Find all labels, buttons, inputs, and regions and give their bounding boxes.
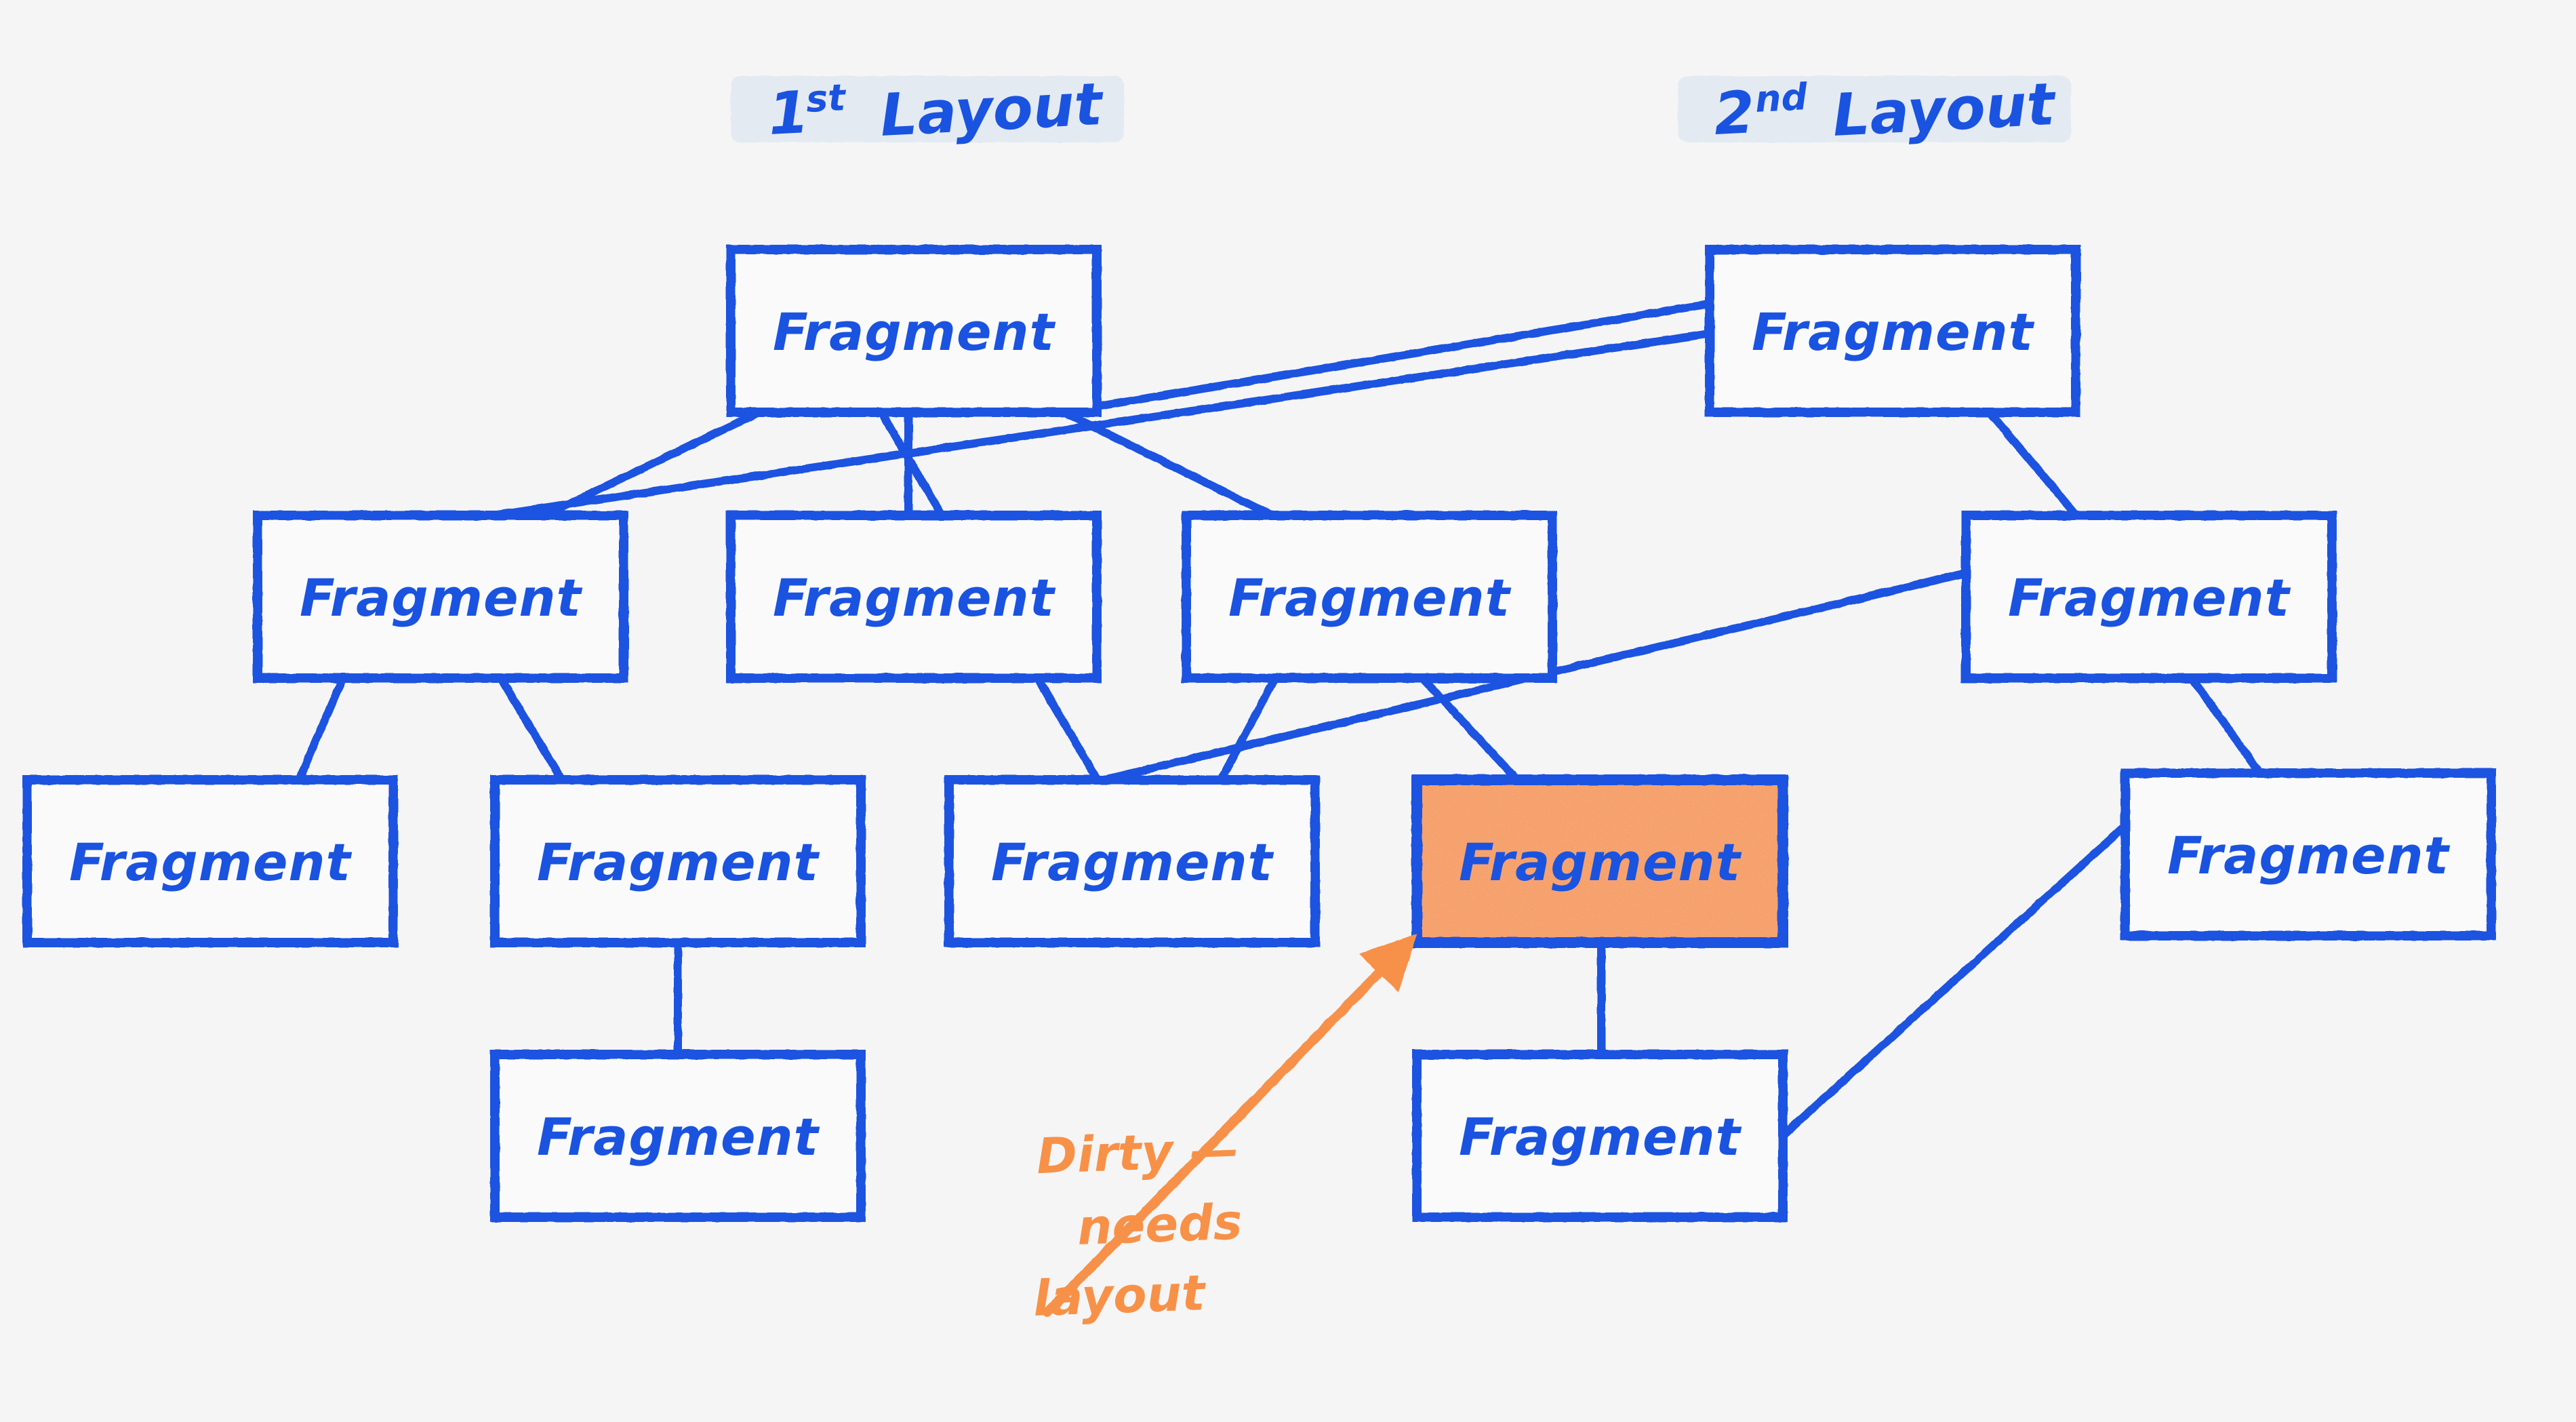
- title-1st-layout: 1 st Layout: [731, 71, 1124, 150]
- node-dirty-child[interactable]: Fragment: [1417, 1054, 1783, 1217]
- dirty-annotation-line-3: layout: [1032, 1264, 1207, 1327]
- node-layer: Fragment Fragment Fragment Fragment Frag…: [27, 250, 2491, 1217]
- fragment-tree-svg: 1 st Layout 2 nd Layout: [0, 0, 2576, 1422]
- node-layout1-mid-2[interactable]: Fragment: [731, 515, 1097, 678]
- dirty-annotation-line-1: Dirty —: [1036, 1121, 1240, 1185]
- node-dirty-fragment[interactable]: Fragment: [1417, 780, 1783, 943]
- title-1-word: Layout: [879, 71, 1106, 150]
- node-label: Fragment: [300, 568, 583, 628]
- node-layout1-bottom-2[interactable]: Fragment: [495, 780, 861, 943]
- edge-layout2-mid-to-layout2-leaf: [2193, 679, 2261, 774]
- node-label: Fragment: [2008, 568, 2291, 628]
- title-2-number: 2: [1712, 79, 1756, 149]
- title-2nd-layout: 2 nd Layout: [1678, 71, 2071, 150]
- node-layout1-root[interactable]: Fragment: [731, 250, 1097, 412]
- title-1-ordinal-suffix: st: [805, 76, 847, 121]
- node-layout2-leaf[interactable]: Fragment: [2125, 773, 2491, 936]
- node-label: Fragment: [1752, 302, 2035, 362]
- node-label: Fragment: [537, 832, 820, 892]
- edge-mid1-to-bottom1: [298, 679, 342, 781]
- title-2-ordinal-suffix: nd: [1754, 75, 1809, 121]
- title-1-number: 1: [767, 79, 811, 149]
- node-label: Fragment: [537, 1107, 820, 1167]
- edge-layout2-root-to-layout2-mid: [1990, 412, 2078, 517]
- node-label: Fragment: [1228, 568, 1512, 628]
- node-layout1-mid-1[interactable]: Fragment: [258, 515, 624, 678]
- edge-layout2-leaf-to-dirty-child: [1764, 826, 2125, 1153]
- edge-root-to-layout2-root: [1095, 304, 1710, 407]
- edge-mid3-to-bottom3: [1220, 679, 1274, 781]
- node-layout2-root[interactable]: Fragment: [1710, 250, 2076, 412]
- node-label: Fragment: [773, 568, 1056, 628]
- node-label: Fragment: [1459, 832, 1742, 892]
- node-label: Fragment: [773, 302, 1056, 362]
- node-layout1-leaf[interactable]: Fragment: [495, 1054, 861, 1217]
- node-label: Fragment: [69, 832, 353, 892]
- node-label: Fragment: [991, 832, 1274, 892]
- node-layout2-mid[interactable]: Fragment: [1966, 515, 2332, 678]
- edge-layer: [298, 304, 2261, 1153]
- dirty-annotation-line-2: needs: [1076, 1193, 1243, 1256]
- node-label: Fragment: [2167, 825, 2451, 886]
- diagram-canvas: 1 st Layout 2 nd Layout: [0, 0, 2576, 1422]
- dirty-annotation: Dirty — needs layout: [1032, 949, 1402, 1327]
- node-layout1-bottom-3[interactable]: Fragment: [949, 780, 1315, 943]
- edge-mid1-to-bottom2: [502, 679, 563, 781]
- node-layout1-mid-3[interactable]: Fragment: [1186, 515, 1552, 678]
- node-label: Fragment: [1459, 1107, 1742, 1167]
- title-2-word: Layout: [1831, 71, 2058, 150]
- node-layout1-bottom-1[interactable]: Fragment: [27, 780, 393, 943]
